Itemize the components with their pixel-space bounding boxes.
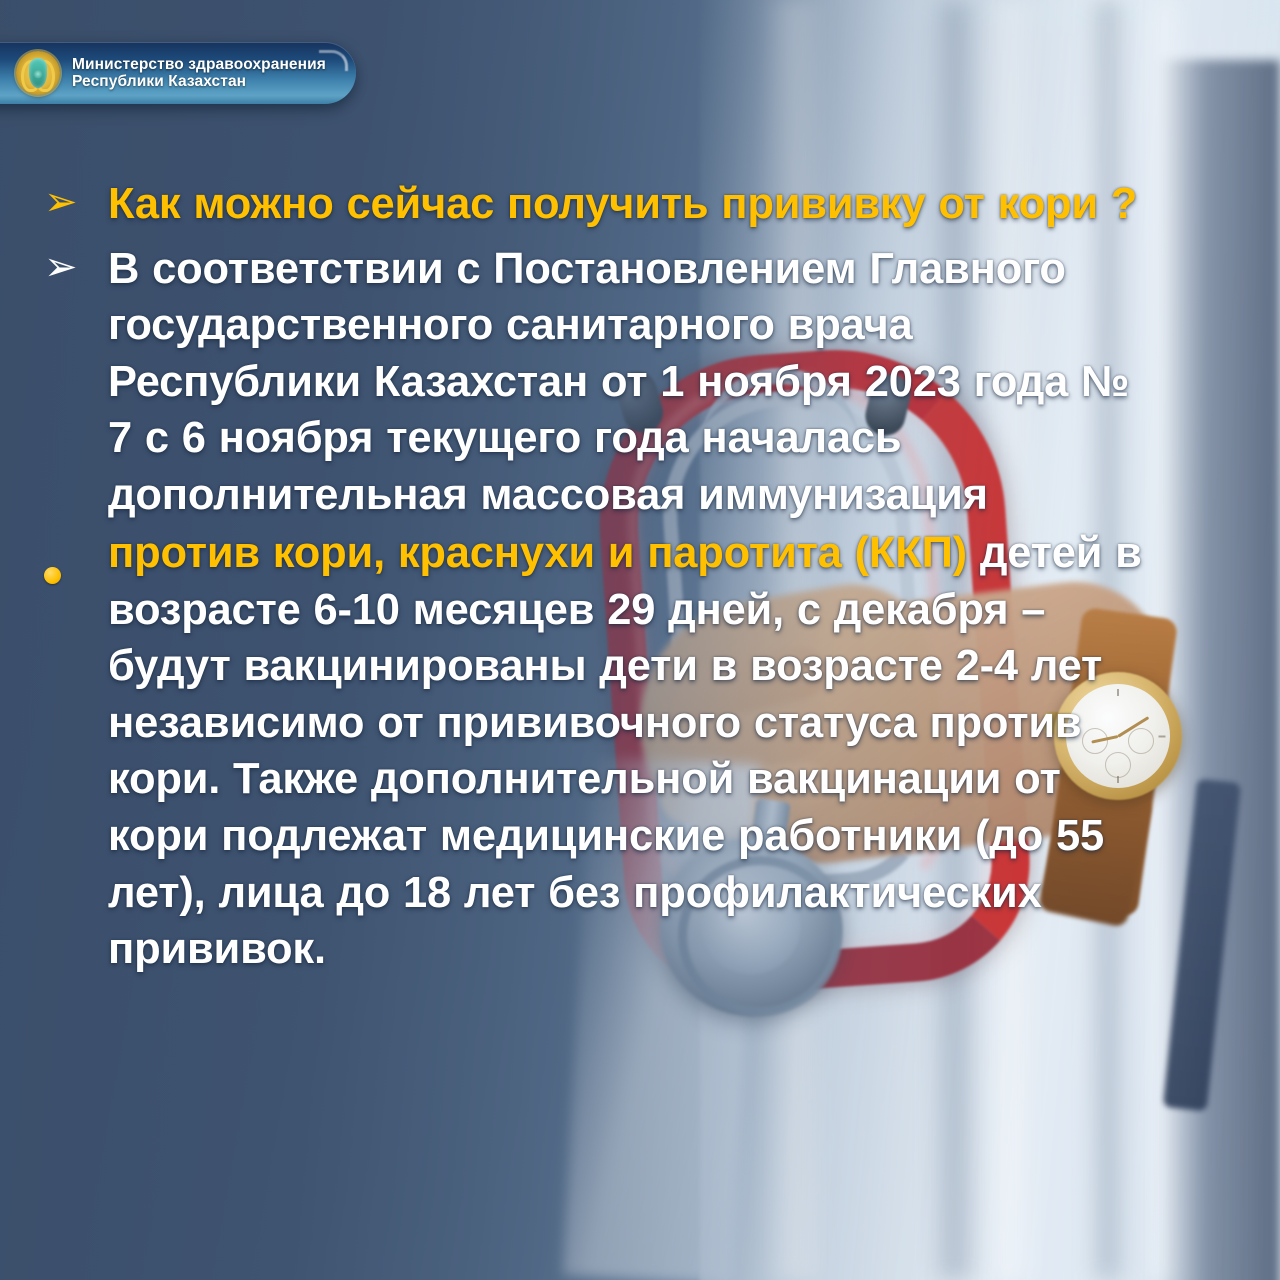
bullet-block-details: против кори, краснухи и паротита (ККП) д…	[44, 525, 1160, 977]
heading-question: Как можно сейчас получить прививку от ко…	[108, 176, 1160, 233]
paragraph-decree: В соответствии с Постановлением Главного…	[108, 241, 1160, 524]
ministry-title: Министерство здравоохранения Республики …	[72, 56, 326, 91]
ministry-banner: Министерство здравоохранения Республики …	[0, 42, 356, 104]
arrow-right-icon: ➢	[44, 241, 108, 287]
kazakhstan-emblem-icon	[16, 51, 60, 95]
paragraph-details-rest: детей в возрасте 6-10 месяцев 29 дней, с…	[108, 529, 1142, 973]
arrow-right-icon: ➢	[44, 176, 108, 222]
slide-root: Министерство здравоохранения Республики …	[0, 0, 1280, 1280]
ministry-title-line2: Республики Казахстан	[72, 73, 326, 90]
banner-gloss	[319, 50, 348, 71]
emblem-shanyrak	[29, 58, 47, 88]
bullet-dot-shape	[44, 567, 61, 584]
content-body: ➢ Как можно сейчас получить прививку от …	[0, 176, 1160, 980]
ministry-title-line1: Министерство здравоохранения	[72, 56, 326, 73]
bullet-block-decree: ➢ В соответствии с Постановлением Главно…	[44, 241, 1160, 524]
paragraph-details: против кори, краснухи и паротита (ККП) д…	[108, 525, 1160, 977]
bullet-block-question: ➢ Как можно сейчас получить прививку от …	[44, 176, 1160, 233]
bullet-dot-icon	[44, 525, 108, 591]
highlight-mmr: против кори, краснухи и паротита (ККП)	[108, 529, 967, 577]
